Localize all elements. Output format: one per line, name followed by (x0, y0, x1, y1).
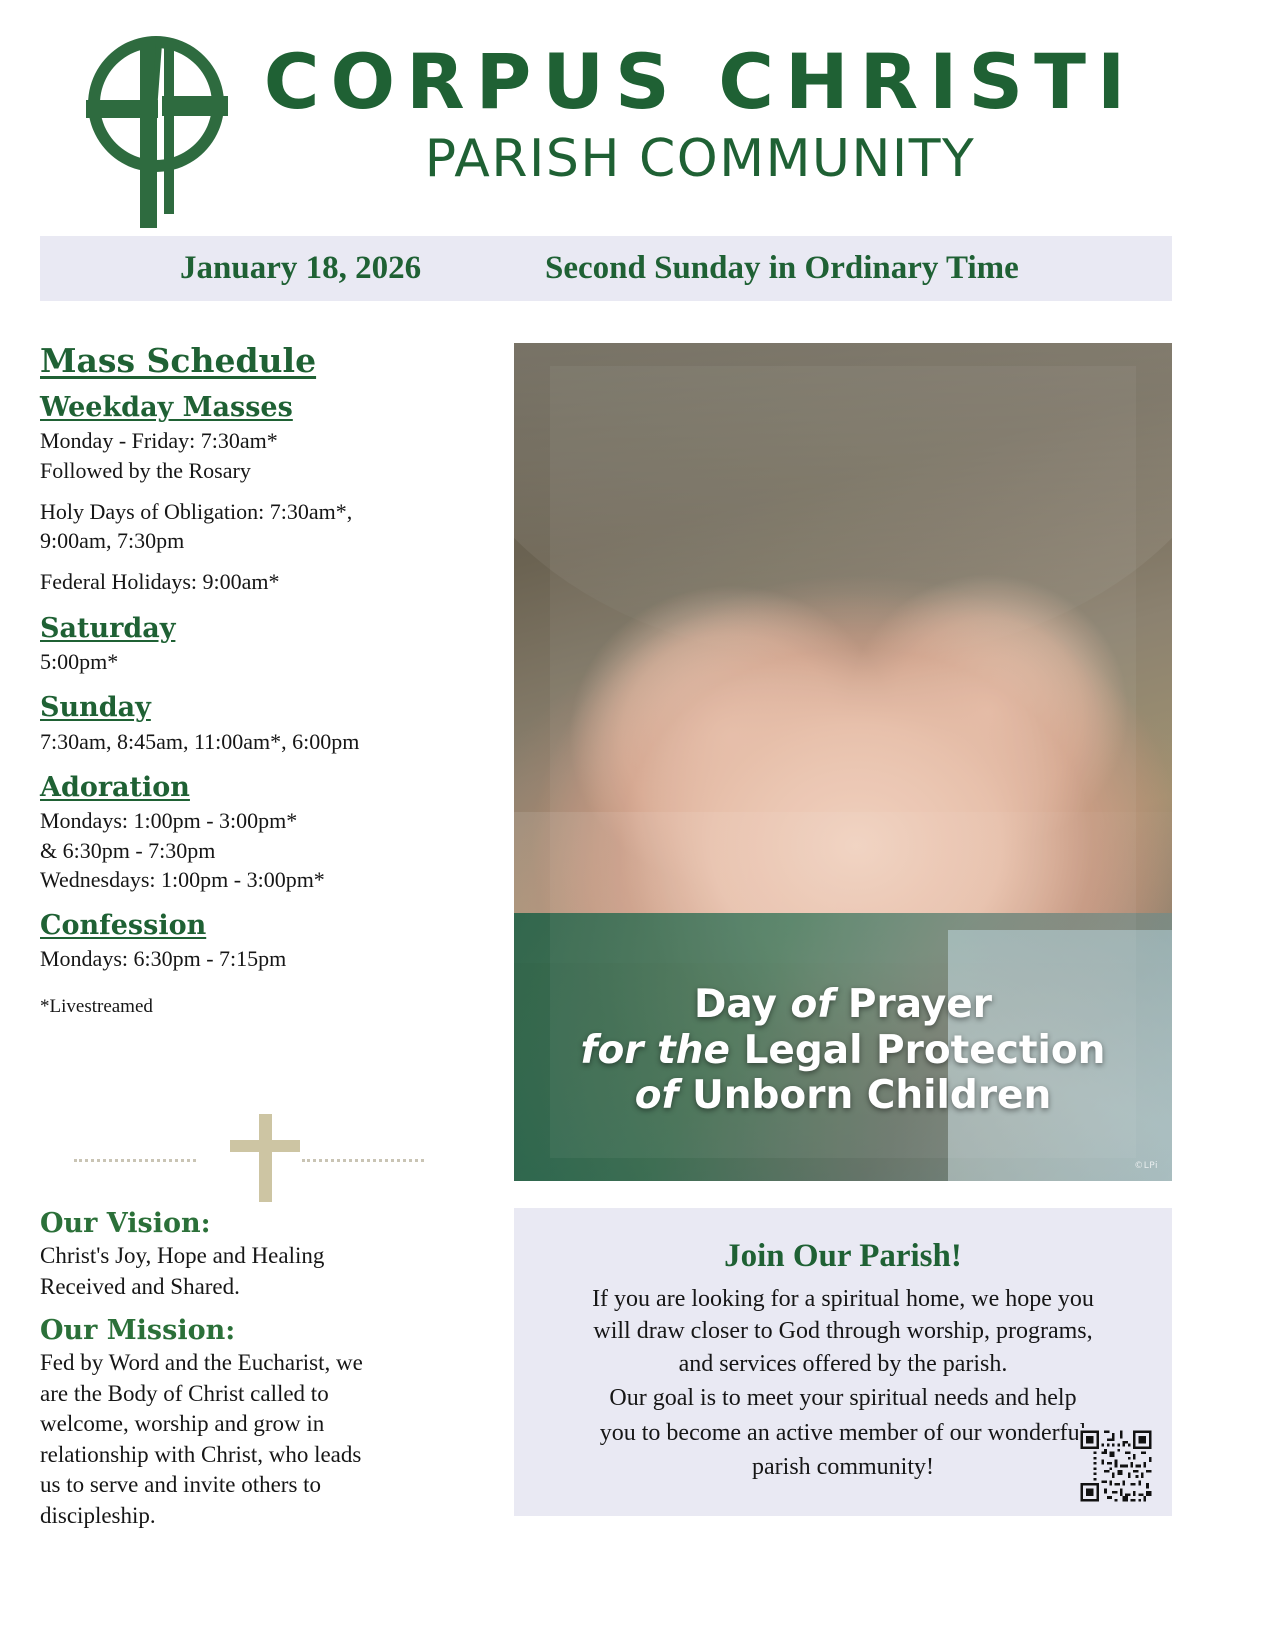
adoration-heading: Adoration (40, 772, 470, 804)
join-body-line-4: Our goal is to meet your spiritual needs… (514, 1382, 1172, 1414)
vision-mission-block: Our Vision: Christ's Joy, Hope and Heali… (40, 1208, 470, 1531)
join-body-line-2: will draw closer to God through worship,… (514, 1315, 1172, 1347)
poster-credit: ©LPi (1134, 1161, 1158, 1171)
mission-line-2: are the Body of Christ called to (40, 1379, 470, 1410)
section-divider (40, 1110, 470, 1202)
bulletin-date: January 18, 2026 (180, 250, 421, 287)
masthead: CORPUS CHRISTI PARISH COMMUNITY (0, 0, 1275, 228)
caption-words-legal-protection: Legal Protection (744, 1028, 1106, 1073)
mission-line-5: us to serve and invite others to (40, 1470, 470, 1501)
wooden-cross-icon (230, 1114, 300, 1202)
cross-horizontal-bar (230, 1140, 300, 1152)
confession-heading: Confession (40, 910, 470, 942)
poster-caption: Day of Prayer for the Legal Protection o… (514, 982, 1172, 1119)
join-our-parish-title: Join Our Parish! (514, 1238, 1172, 1275)
join-our-parish-box: Join Our Parish! If you are looking for … (514, 1208, 1172, 1516)
page-subtitle: PARISH COMMUNITY (240, 132, 1160, 187)
adoration-line-1: Mondays: 1:00pm - 3:00pm* (40, 806, 470, 835)
holy-days-line-2: 9:00am, 7:30pm (40, 526, 470, 555)
mission-line-1: Fed by Word and the Eucharist, we (40, 1348, 470, 1379)
saturday-times: 5:00pm* (40, 647, 470, 676)
caption-words-unborn-children: Unborn Children (692, 1073, 1051, 1118)
join-body-line-6: parish community! (514, 1451, 1172, 1483)
vision-line-2: Received and Shared. (40, 1272, 470, 1303)
sunday-heading: Sunday (40, 692, 470, 724)
saturday-heading: Saturday (40, 613, 470, 645)
join-body-line-5: you to become an active member of our wo… (514, 1417, 1172, 1449)
mass-schedule-heading: Mass Schedule (40, 342, 470, 380)
mission-line-6: discipleship. (40, 1501, 470, 1532)
adoration-line-2: & 6:30pm - 7:30pm (40, 836, 470, 865)
mission-line-4: relationship with Christ, who leads (40, 1440, 470, 1471)
join-body-line-1: If you are looking for a spiritual home,… (514, 1283, 1172, 1315)
divider-dots-right (302, 1159, 424, 1165)
weekday-masses-heading: Weekday Masses (40, 392, 470, 424)
confession-times: Mondays: 6:30pm - 7:15pm (40, 944, 470, 973)
date-banner: January 18, 2026 Second Sunday in Ordina… (40, 236, 1172, 301)
adoration-line-3: Wednesdays: 1:00pm - 3:00pm* (40, 865, 470, 894)
caption-word-of-2: of (635, 1073, 692, 1118)
cross-vertical-bar (259, 1114, 272, 1202)
caption-word-day: Day (694, 982, 791, 1027)
federal-holidays-line: Federal Holidays: 9:00am* (40, 567, 470, 596)
sunday-times: 7:30am, 8:45am, 11:00am*, 6:00pm (40, 727, 470, 756)
our-vision-title: Our Vision: (40, 1208, 470, 1240)
caption-words-for-the: for the (581, 1028, 744, 1073)
page-title: CORPUS CHRISTI (240, 44, 1160, 120)
qr-code-icon[interactable] (1078, 1428, 1154, 1504)
mission-line-3: welcome, worship and grow in (40, 1409, 470, 1440)
liturgical-season: Second Sunday in Ordinary Time (545, 250, 1019, 287)
join-body-line-3: and services offered by the parish. (514, 1348, 1172, 1380)
divider-dots-left (74, 1159, 196, 1165)
wordmark: CORPUS CHRISTI PARISH COMMUNITY (240, 44, 1160, 187)
our-mission-title: Our Mission: (40, 1315, 470, 1347)
cross-in-circle-logo-icon (76, 28, 236, 228)
mass-schedule-column: Mass Schedule Weekday Masses Monday - Fr… (40, 342, 470, 1018)
weekday-line-1: Monday - Friday: 7:30am* (40, 426, 470, 455)
vision-line-1: Christ's Joy, Hope and Healing (40, 1241, 470, 1272)
livestream-footnote: *Livestreamed (40, 996, 470, 1018)
qr-code[interactable] (1078, 1428, 1154, 1504)
day-of-prayer-poster: Day of Prayer for the Legal Protection o… (514, 343, 1172, 1181)
caption-word-prayer: Prayer (848, 982, 992, 1027)
caption-word-of: of (791, 982, 848, 1027)
holy-days-line-1: Holy Days of Obligation: 7:30am*, (40, 497, 470, 526)
poster-caption-line-1: Day of Prayer (540, 982, 1146, 1028)
poster-caption-line-3: of Unborn Children (540, 1073, 1146, 1119)
poster-caption-line-2: for the Legal Protection (540, 1028, 1146, 1074)
weekday-line-2: Followed by the Rosary (40, 456, 470, 485)
parish-logo (76, 28, 236, 228)
